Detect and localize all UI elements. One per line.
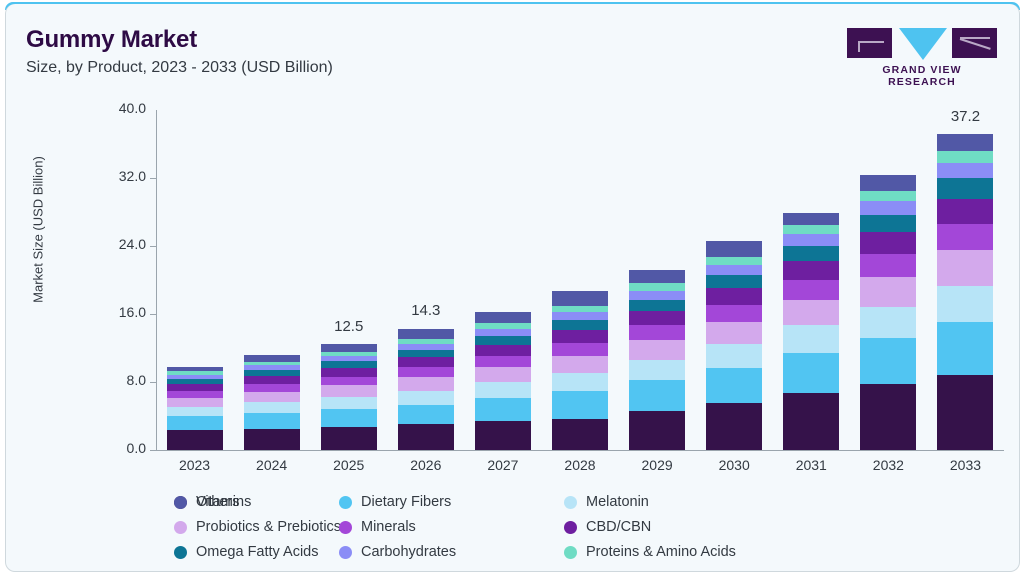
legend-item[interactable]: Carbohydrates	[339, 540, 456, 564]
bar-segment[interactable]	[475, 367, 531, 382]
bar-segment[interactable]	[398, 357, 454, 367]
y-tick-mark	[150, 178, 156, 179]
bar-segment[interactable]	[167, 391, 223, 398]
bar-segment[interactable]	[937, 322, 993, 376]
bar-segment[interactable]	[706, 368, 762, 403]
bar-segment[interactable]	[552, 419, 608, 450]
bar-segment[interactable]	[860, 215, 916, 232]
y-axis-line	[156, 110, 157, 451]
bar-segment[interactable]	[321, 397, 377, 409]
y-tick-label: 8.0	[94, 372, 146, 388]
legend-item-label: Omega Fatty Acids	[196, 544, 319, 560]
y-axis-label: Market Size (USD Billion)	[31, 110, 46, 350]
legend-item-label: Proteins & Amino Acids	[586, 544, 736, 560]
bar-segment[interactable]	[860, 277, 916, 307]
bar-segment[interactable]	[475, 421, 531, 450]
legend-item-label: Probiotics & Prebiotics	[196, 519, 341, 535]
bar-group[interactable]	[398, 328, 454, 450]
bar-segment[interactable]	[629, 411, 685, 450]
bar-segment[interactable]	[860, 384, 916, 450]
bar-segment[interactable]	[860, 338, 916, 384]
bar-segment[interactable]	[321, 409, 377, 427]
y-tick-label: 16.0	[94, 304, 146, 320]
bar-segment[interactable]	[783, 213, 839, 225]
bar-segment[interactable]	[167, 407, 223, 416]
stacked-bar[interactable]	[167, 367, 223, 450]
legend-item-label: Melatonin	[586, 494, 649, 510]
legend-item[interactable]: Dietary Fibers	[339, 490, 451, 514]
legend-color-swatch-icon	[174, 521, 187, 534]
bar-segment[interactable]	[706, 322, 762, 345]
bar-group[interactable]	[552, 291, 608, 450]
y-tick-label: 40.0	[94, 100, 146, 116]
bar-group[interactable]	[937, 134, 993, 450]
legend-color-swatch-icon	[564, 496, 577, 509]
legend-color-swatch-icon	[174, 496, 187, 509]
bar-segment[interactable]	[937, 375, 993, 450]
y-tick-mark	[150, 246, 156, 247]
bar-segment[interactable]	[937, 134, 993, 151]
bar-segment[interactable]	[629, 300, 685, 311]
chart-legend: VitaminsProbiotics & PrebioticsOmega Fat…	[174, 490, 994, 566]
legend-item[interactable]: Omega Fatty Acids	[174, 540, 319, 564]
y-tick-label: 32.0	[94, 168, 146, 184]
bar-segment[interactable]	[475, 382, 531, 398]
bar-segment[interactable]	[937, 199, 993, 225]
bar-segment[interactable]	[629, 360, 685, 380]
stacked-bar[interactable]	[706, 241, 762, 450]
bar-segment[interactable]	[706, 265, 762, 275]
bar-segment[interactable]	[321, 385, 377, 396]
bar-segment[interactable]	[167, 416, 223, 430]
legend-color-swatch-icon	[339, 546, 352, 559]
stacked-bar[interactable]	[244, 355, 300, 450]
bar-group[interactable]	[475, 311, 531, 450]
bar-segment[interactable]	[783, 246, 839, 261]
bar-segment[interactable]	[475, 356, 531, 367]
bar-segment[interactable]	[552, 291, 608, 306]
bar-segment[interactable]	[321, 368, 377, 377]
x-axis-line	[156, 450, 1004, 451]
x-tick-label: 2033	[920, 457, 1010, 473]
bar-group[interactable]	[167, 367, 223, 450]
legend-item[interactable]: CBD/CBN	[564, 515, 651, 539]
bar-segment[interactable]	[860, 232, 916, 254]
bar-group[interactable]	[321, 344, 377, 450]
legend-item[interactable]: Melatonin	[564, 490, 649, 514]
bar-segment[interactable]	[937, 178, 993, 198]
stacked-bar[interactable]	[860, 175, 916, 450]
bar-segment[interactable]	[475, 329, 531, 336]
bar-segment[interactable]	[321, 427, 377, 450]
stacked-bar[interactable]	[321, 344, 377, 450]
bar-segment[interactable]	[244, 413, 300, 430]
bar-segment[interactable]	[552, 343, 608, 356]
stacked-bar[interactable]	[629, 270, 685, 450]
bar-segment[interactable]	[860, 201, 916, 214]
bar-segment[interactable]	[244, 429, 300, 450]
bar-segment[interactable]	[629, 325, 685, 340]
stacked-bar[interactable]	[937, 134, 993, 450]
bar-segment[interactable]	[244, 384, 300, 392]
bar-segment[interactable]	[860, 254, 916, 277]
bar-segment[interactable]	[706, 241, 762, 257]
y-tick-label: 0.0	[94, 440, 146, 456]
bar-segment[interactable]	[706, 257, 762, 265]
bar-segment[interactable]	[552, 373, 608, 391]
stacked-bar[interactable]	[475, 311, 531, 450]
legend-item[interactable]: Proteins & Amino Acids	[564, 540, 736, 564]
bar-segment[interactable]	[629, 311, 685, 325]
bar-segment[interactable]	[552, 320, 608, 330]
bar-segment[interactable]	[629, 291, 685, 300]
bar-segment[interactable]	[629, 340, 685, 360]
legend-color-swatch-icon	[339, 496, 352, 509]
bar-segment[interactable]	[706, 288, 762, 305]
bar-segment[interactable]	[629, 380, 685, 411]
bar-segment[interactable]	[321, 377, 377, 386]
stacked-bar[interactable]	[552, 291, 608, 450]
bar-segment[interactable]	[783, 353, 839, 393]
bar-segment[interactable]	[937, 224, 993, 250]
bar-segment[interactable]	[398, 424, 454, 450]
bar-segment[interactable]	[706, 305, 762, 322]
bar-segment[interactable]	[321, 344, 377, 352]
bar-segment[interactable]	[937, 286, 993, 322]
bar-value-label: 37.2	[920, 108, 1010, 125]
legend-item[interactable]: Others	[174, 490, 240, 514]
chart-card: Gummy Market Size, by Product, 2023 - 20…	[5, 4, 1020, 572]
bar-segment[interactable]	[629, 270, 685, 284]
bar-group[interactable]	[783, 213, 839, 450]
stacked-bar[interactable]	[783, 213, 839, 450]
legend-item[interactable]: Minerals	[339, 515, 416, 539]
legend-item-label: Dietary Fibers	[361, 494, 451, 510]
bar-segment[interactable]	[860, 175, 916, 191]
bar-segment[interactable]	[167, 430, 223, 450]
bar-segment[interactable]	[552, 312, 608, 320]
legend-color-swatch-icon	[339, 521, 352, 534]
bar-group[interactable]	[629, 270, 685, 450]
legend-item-label: Carbohydrates	[361, 544, 456, 560]
bar-segment[interactable]	[244, 402, 300, 413]
bar-segment[interactable]	[475, 345, 531, 356]
bar-segment[interactable]	[937, 151, 993, 163]
bar-segment[interactable]	[783, 261, 839, 280]
bar-segment[interactable]	[552, 391, 608, 419]
bar-segment[interactable]	[706, 403, 762, 450]
bar-segment[interactable]	[244, 376, 300, 384]
bar-group[interactable]	[860, 175, 916, 450]
bar-value-label: 12.5	[304, 318, 394, 335]
bar-segment[interactable]	[706, 344, 762, 367]
stacked-bar[interactable]	[398, 328, 454, 450]
bar-segment[interactable]	[167, 384, 223, 391]
legend-color-swatch-icon	[564, 546, 577, 559]
bar-segment[interactable]	[244, 355, 300, 362]
bar-segment[interactable]	[398, 377, 454, 390]
bar-segment[interactable]	[398, 329, 454, 340]
legend-color-swatch-icon	[174, 546, 187, 559]
bar-segment[interactable]	[398, 391, 454, 405]
bar-segment[interactable]	[244, 392, 300, 402]
bar-group[interactable]	[706, 241, 762, 450]
bar-segment[interactable]	[398, 405, 454, 425]
bar-group[interactable]	[244, 355, 300, 450]
bar-segment[interactable]	[937, 250, 993, 285]
y-tick-label: 24.0	[94, 236, 146, 252]
legend-item-label: CBD/CBN	[586, 519, 651, 535]
bar-segment[interactable]	[398, 367, 454, 377]
bar-segment[interactable]	[629, 283, 685, 290]
bar-segment[interactable]	[783, 225, 839, 234]
bar-segment[interactable]	[783, 393, 839, 450]
bar-segment[interactable]	[783, 234, 839, 245]
bar-segment[interactable]	[552, 356, 608, 373]
y-tick-mark	[150, 382, 156, 383]
bar-segment[interactable]	[475, 312, 531, 324]
legend-item-label: Others	[196, 494, 240, 510]
bar-segment[interactable]	[783, 280, 839, 300]
bar-segment[interactable]	[475, 336, 531, 345]
legend-color-swatch-icon	[564, 521, 577, 534]
bar-segment[interactable]	[860, 307, 916, 338]
bar-segment[interactable]	[937, 163, 993, 178]
y-tick-mark	[150, 450, 156, 451]
bar-segment[interactable]	[860, 191, 916, 202]
legend-item-label: Minerals	[361, 519, 416, 535]
bar-segment[interactable]	[552, 330, 608, 343]
bar-segment[interactable]	[783, 325, 839, 352]
bar-value-label: 14.3	[381, 302, 471, 319]
bar-segment[interactable]	[398, 350, 454, 358]
bar-segment[interactable]	[167, 398, 223, 407]
bar-segment[interactable]	[321, 361, 377, 368]
bar-segment[interactable]	[783, 300, 839, 326]
bar-segment[interactable]	[706, 275, 762, 288]
stacked-bar-chart: Market Size (USD Billion) 0.08.016.024.0…	[6, 4, 1020, 572]
legend-item[interactable]: Probiotics & Prebiotics	[174, 515, 341, 539]
bar-segment[interactable]	[475, 398, 531, 421]
y-tick-mark	[150, 314, 156, 315]
